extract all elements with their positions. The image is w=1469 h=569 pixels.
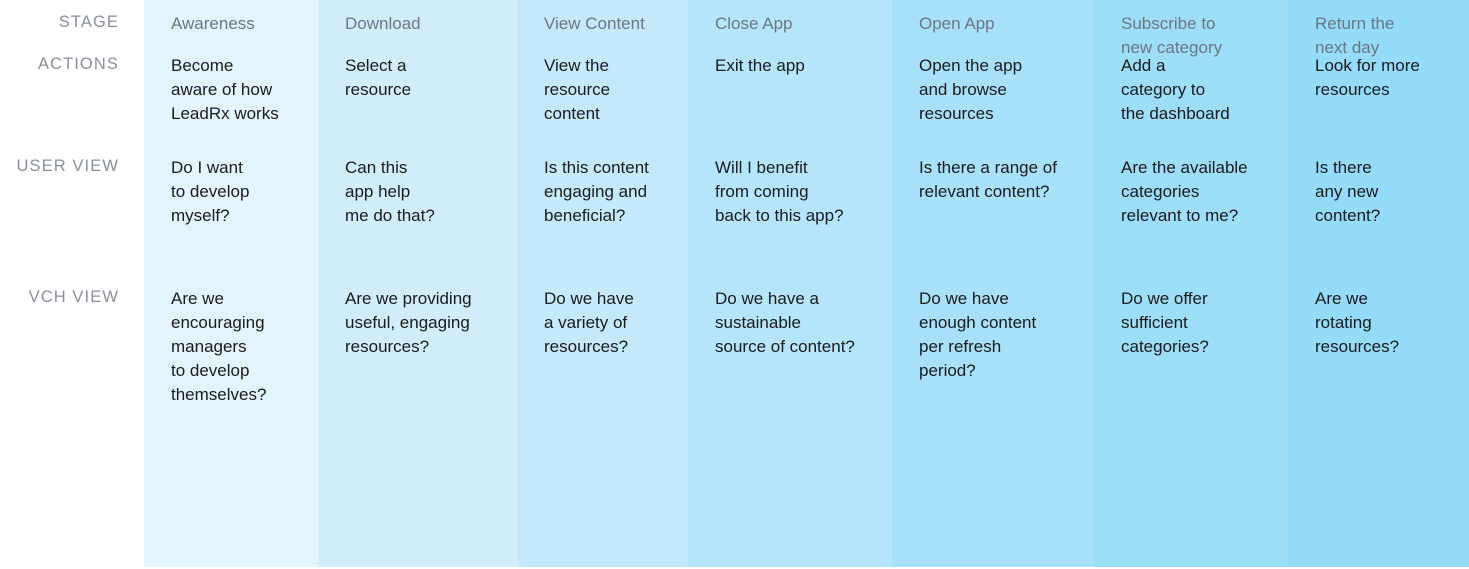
journey-grid: STAGE Awareness Download View Content Cl… (0, 0, 1469, 569)
user-view-cell-1: Do I want to develop myself? (144, 150, 318, 281)
actions-cell-4: Exit the app (688, 48, 892, 150)
actions-cell-2: Select a resource (318, 48, 517, 150)
vch-view-cell-4: Do we have a sustainable source of conte… (688, 281, 892, 569)
row-label-user-view: USER VIEW (0, 150, 144, 281)
actions-cell-5: Open the app and browse resources (892, 48, 1094, 150)
stage-header-5: Open App (892, 0, 1094, 48)
stage-header-1: Awareness (144, 0, 318, 48)
user-view-cell-5: Is there a range of relevant content? (892, 150, 1094, 281)
actions-cell-3: View the resource content (517, 48, 688, 150)
vch-view-cell-1: Are we encouraging managers to develop t… (144, 281, 318, 569)
stage-header-7: Return the next day (1288, 0, 1469, 48)
user-view-cell-6: Are the available categories relevant to… (1094, 150, 1288, 281)
stage-header-6: Subscribe to new category (1094, 0, 1288, 48)
vch-view-cell-7: Are we rotating resources? (1288, 281, 1469, 569)
user-view-cell-4: Will I benefit from coming back to this … (688, 150, 892, 281)
vch-view-cell-3: Do we have a variety of resources? (517, 281, 688, 569)
user-view-cell-3: Is this content engaging and beneficial? (517, 150, 688, 281)
customer-journey-map: STAGE Awareness Download View Content Cl… (0, 0, 1469, 569)
user-view-cell-7: Is there any new content? (1288, 150, 1469, 281)
row-label-stage: STAGE (0, 0, 144, 48)
row-label-vch-view: VCH VIEW (0, 281, 144, 569)
stage-header-4: Close App (688, 0, 892, 48)
actions-cell-1: Become aware of how LeadRx works (144, 48, 318, 150)
vch-view-cell-5: Do we have enough content per refresh pe… (892, 281, 1094, 569)
row-label-actions: ACTIONS (0, 48, 144, 150)
stage-header-3: View Content (517, 0, 688, 48)
user-view-cell-2: Can this app help me do that? (318, 150, 517, 281)
actions-cell-7: Look for more resources (1288, 48, 1469, 150)
vch-view-cell-2: Are we providing useful, engaging resour… (318, 281, 517, 569)
actions-cell-6: Add a category to the dashboard (1094, 48, 1288, 150)
stage-header-2: Download (318, 0, 517, 48)
vch-view-cell-6: Do we offer sufficient categories? (1094, 281, 1288, 569)
